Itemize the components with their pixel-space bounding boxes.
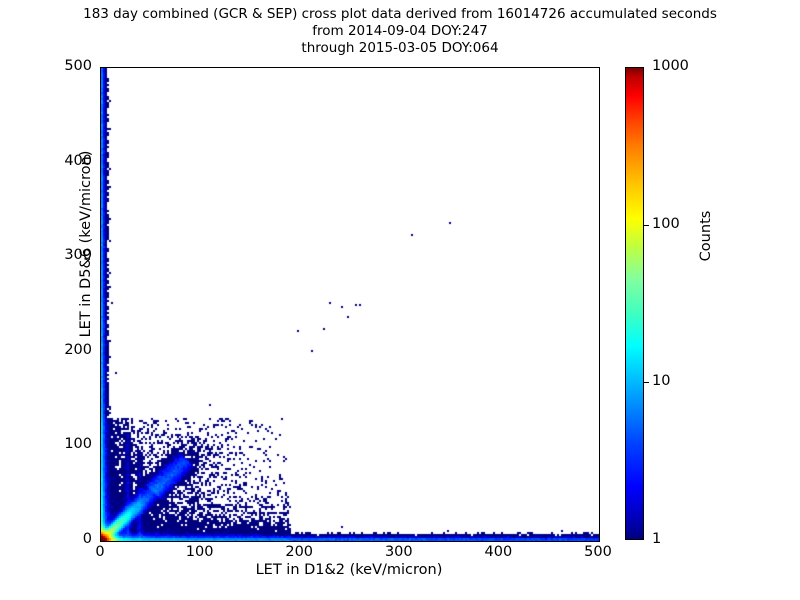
colorbar-tick-mark	[644, 225, 649, 226]
scatter-density-canvas	[101, 68, 599, 541]
x-tick-mark	[201, 541, 202, 542]
y-tick-label: 100	[32, 436, 92, 452]
y-tick-mark	[100, 163, 101, 164]
plot-area[interactable]	[100, 67, 600, 542]
colorbar-tick-label: 10	[652, 373, 670, 389]
y-tick-mark	[100, 352, 101, 353]
chart-title-line-2: from 2014-09-04 DOY:247	[0, 23, 800, 40]
x-tick-mark	[499, 541, 500, 542]
colorbar-title: Counts	[698, 136, 714, 336]
x-tick-label: 500	[568, 544, 628, 560]
colorbar-tick-label: 1000	[652, 58, 689, 74]
figure: 183 day combined (GCR & SEP) cross plot …	[0, 0, 800, 600]
x-tick-mark	[599, 541, 600, 542]
x-tick-mark	[101, 541, 102, 542]
x-tick-label: 0	[70, 544, 130, 560]
y-axis-title: LET in D5&6 (keV/micron)	[78, 94, 94, 394]
chart-title: 183 day combined (GCR & SEP) cross plot …	[0, 6, 800, 57]
colorbar-tick-mark	[644, 382, 649, 383]
x-tick-mark	[400, 541, 401, 542]
y-tick-mark	[100, 68, 101, 69]
colorbar-tick-label: 1	[652, 531, 661, 547]
colorbar-tick-label: 100	[652, 216, 680, 232]
x-tick-mark	[300, 541, 301, 542]
y-tick-mark	[100, 446, 101, 447]
x-tick-label: 300	[369, 544, 429, 560]
y-tick-mark	[100, 541, 101, 542]
chart-title-line-3: through 2015-03-05 DOY:064	[0, 40, 800, 57]
x-axis-title: LET in D1&2 (keV/micron)	[100, 562, 598, 578]
colorbar-gradient	[625, 67, 644, 540]
chart-title-line-1: 183 day combined (GCR & SEP) cross plot …	[0, 6, 800, 23]
x-tick-label: 100	[170, 544, 230, 560]
y-tick-label: 500	[32, 58, 92, 74]
colorbar[interactable]: 1101001000	[625, 67, 644, 540]
x-tick-label: 200	[269, 544, 329, 560]
y-tick-mark	[100, 257, 101, 258]
x-tick-label: 400	[468, 544, 528, 560]
